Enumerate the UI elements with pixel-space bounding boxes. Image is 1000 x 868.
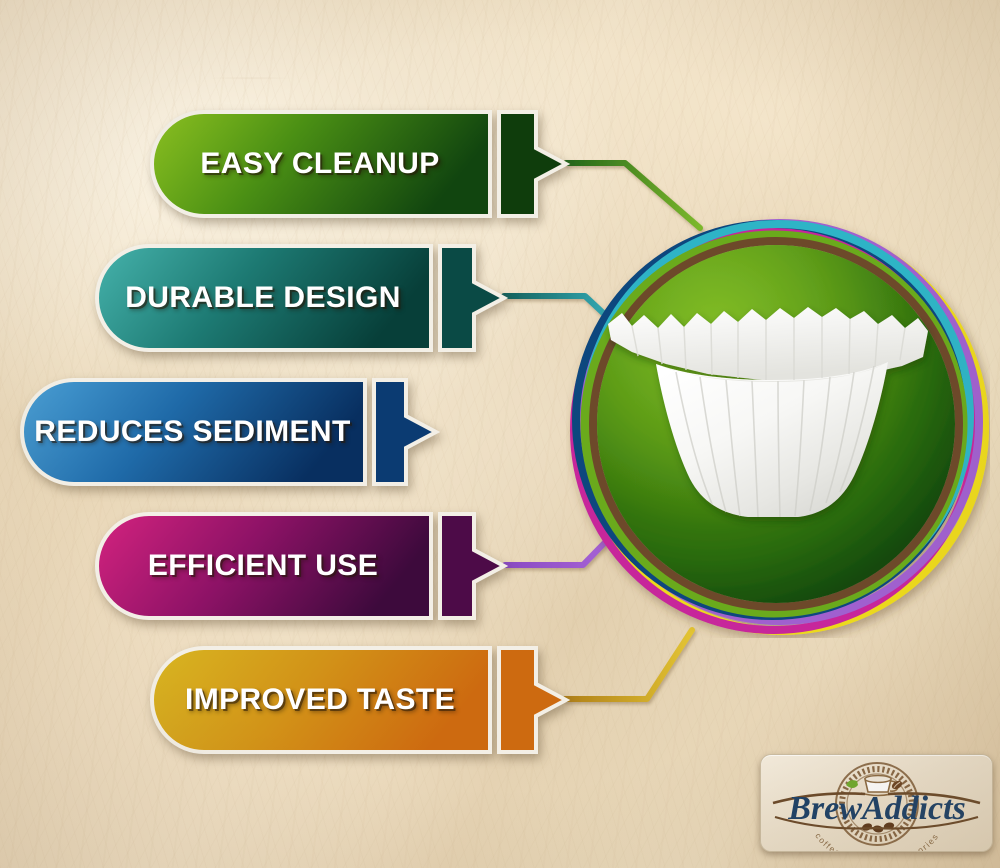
banner-body [97, 514, 431, 618]
feature-banner-efficient-use[interactable]: EFFICIENT USE [95, 512, 515, 620]
banner-tip [440, 514, 504, 618]
banner-body [22, 380, 365, 484]
banner-tip [499, 112, 566, 216]
banner-body [152, 112, 490, 216]
feature-banner-reduces-sediment[interactable]: REDUCES SEDIMENT [20, 378, 444, 486]
connector-5 [565, 630, 692, 699]
brand-wordmark: BrewAddicts [787, 790, 966, 827]
feature-banner-durable-design[interactable]: DURABLE DESIGN [95, 244, 515, 352]
brand-logo[interactable]: BrewAddicts coffee and tea accessories [760, 754, 993, 852]
banner-body [152, 648, 490, 752]
central-emblem [566, 214, 990, 638]
banner-tip [374, 380, 436, 484]
banner-tip [499, 648, 566, 752]
feature-banner-improved-taste[interactable]: IMPROVED TASTE [150, 646, 568, 754]
feature-banner-easy-cleanup[interactable]: EASY CLEANUP [150, 110, 568, 218]
banner-tip [440, 246, 504, 350]
banner-body [97, 246, 431, 350]
